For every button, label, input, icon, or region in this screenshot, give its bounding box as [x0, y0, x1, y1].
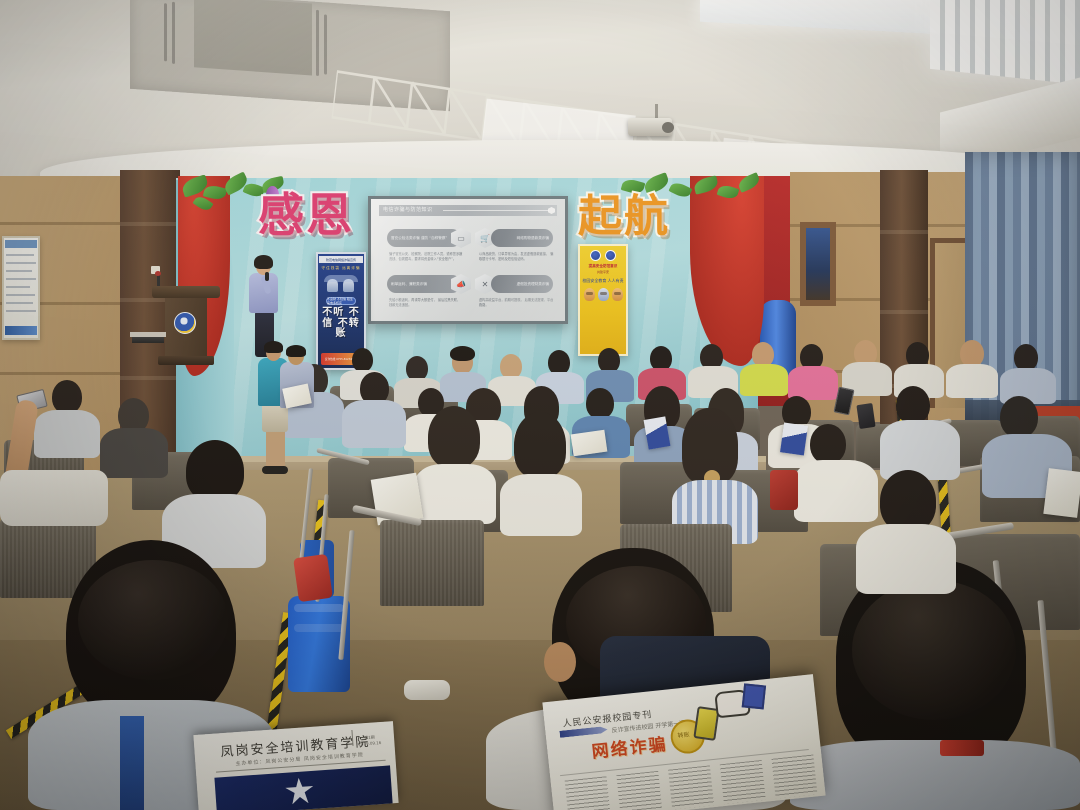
attendee-torso: [788, 366, 838, 400]
slide-card: 虚假投资理财类诈骗: [491, 275, 553, 293]
attendee-torso: [880, 420, 960, 480]
attendee-torso: [740, 364, 788, 396]
lanyard: [120, 716, 144, 810]
projection-screen: 电信诈骗与防范知识 冒充公检法类诈骗 谨防 “自称警察” ▭ 骗子冒充公安、检察…: [371, 199, 565, 321]
notice-board: [2, 236, 40, 340]
newspaper-handout-left[interactable]: 凤岗安全培训教育学院 第1期 2019.09.16 主办单位：凤岗公安分局 凤岗…: [193, 721, 398, 810]
slide-card: 网络购物退款类诈骗: [491, 229, 553, 247]
police-emblem: [174, 312, 196, 334]
attendee-torso: [342, 400, 406, 448]
helper-hair: [264, 341, 283, 353]
newspaper-column: [668, 765, 714, 809]
banner-figures: [584, 288, 623, 301]
attendee-head: [896, 386, 930, 424]
attendee-torso: [34, 410, 100, 458]
attendee-head: [810, 424, 846, 464]
pamphlet[interactable]: [780, 422, 808, 455]
attendee-head: [880, 470, 936, 532]
child-icon: [584, 288, 595, 301]
attendee-head: [1000, 396, 1038, 438]
attendee-head: [52, 380, 82, 414]
attendee-torso: [0, 470, 108, 526]
slide-card: 冒充公检法类诈骗 谨防 “自称警察”: [387, 229, 461, 247]
issue-date: 2019.09.16: [358, 740, 381, 747]
banner-subtitle: 共建平安: [597, 270, 609, 274]
red-lanyard: [940, 740, 984, 756]
slide-card-label: 冒充公检法类诈骗 谨防 “自称警察”: [391, 236, 447, 241]
attendee-torso: [946, 364, 998, 398]
smartphone[interactable]: [856, 403, 875, 429]
shoe: [404, 680, 450, 700]
newspaper-column: [772, 755, 818, 799]
projection-screen-frame: 电信诈骗与防范知识 冒充公检法类诈骗 谨防 “自称警察” ▭ 骗子冒充公安、检察…: [368, 196, 568, 324]
child-icon: [612, 288, 623, 301]
attendee-head: [586, 388, 614, 419]
microphone-head-icon: [155, 271, 161, 276]
attendee-hair: [514, 412, 566, 478]
banner-safety-yellow: 提高安全防范意识 共建平安 校园安全教育 人人有责: [578, 244, 628, 356]
attendee-head: [352, 348, 373, 372]
slide-title: 电信诈骗与防范知识: [383, 206, 433, 213]
auditorium-photo: 感恩 起航 电信诈骗与防范知识 冒充公检法类诈骗 谨防 “自称警察” ▭ 骗子冒…: [0, 0, 1080, 810]
attendee-torso: [856, 524, 956, 594]
banner-body: 校园安全教育 人人有责: [582, 278, 623, 284]
banner-title: 提高安全防范意识: [589, 264, 618, 269]
banner-pill-text: 不贪财 不轻信 陌生来电多核实: [326, 297, 356, 305]
attendee-head: [960, 340, 984, 367]
backdrop-word-right: 起航: [578, 196, 670, 238]
attendee-torso: [794, 460, 878, 522]
notice-header-band: [5, 240, 37, 248]
newspaper-issue-date: 第1期 2019.09.16: [358, 734, 382, 747]
attendee-hair: [428, 406, 480, 468]
helper-shoe: [262, 466, 288, 474]
hair-highlight: [852, 580, 1016, 720]
attendee-torso: [414, 464, 496, 524]
helper-legs: [266, 430, 285, 470]
handout[interactable]: [1043, 468, 1080, 518]
stool-highlight: [294, 604, 344, 612]
attendee-head: [1014, 344, 1038, 371]
notice-footer-band: [5, 326, 37, 335]
framed-picture-right: [800, 222, 836, 306]
attendee-head: [186, 440, 244, 502]
slide-card: 刷单返利、兼职类诈骗: [387, 275, 461, 293]
side-table-top: [130, 332, 166, 337]
slide-card-label: 虚假投资理财类诈骗: [517, 282, 549, 287]
speaker-hair: [254, 255, 273, 269]
ear: [544, 642, 576, 682]
attendee-torso-foreground: [790, 740, 1080, 810]
seat-mesh: [380, 520, 484, 606]
police-badge-icon: [605, 250, 616, 261]
banner-badges: [590, 250, 616, 261]
sleeve-cuff-icon: [742, 683, 766, 709]
newspaper-headline: 网络诈骗: [590, 730, 668, 763]
side-table: [132, 336, 164, 343]
podium-base: [158, 356, 214, 365]
slide-card-body: 骗子冒充公安、检察院、法院工作人员，谎称您涉嫌 洗钱、包裹藏毒，要求将资金转入“…: [389, 252, 463, 262]
police-icon: [598, 288, 609, 301]
slide-card-body: 虚构高收益平台，前期可提现， 后期无法提现、平台跑路。: [479, 298, 555, 308]
banner-org-strip: 防范电信网络诈骗宣传: [319, 256, 363, 263]
backdrop-word-left: 感恩: [258, 194, 354, 238]
police-badge-icon: [590, 250, 601, 261]
slide-card-label: 刷单返利、兼职类诈骗: [391, 282, 427, 287]
banner-illustration: [324, 273, 358, 295]
podium-top: [152, 286, 220, 298]
banner-org-text: 防范电信网络诈骗宣传: [326, 258, 356, 262]
red-bag: [770, 470, 798, 510]
slide-card-body: 以商品缺货、订单异常为由，发送虚假退款链接， 骗取银行卡号、密码及短信验证码。: [479, 252, 555, 262]
slide-card-label: 网络购物退款类诈骗: [517, 236, 549, 241]
helper-hair: [286, 345, 306, 357]
projector-lens-icon: [662, 122, 674, 133]
attendee-hair: [450, 346, 475, 361]
newspaper-column: [720, 760, 766, 804]
banner-slogan: 不听 不信 不转账: [318, 308, 364, 340]
attendee-torso: [500, 474, 582, 536]
slide-card-body: 先给小额返利，再诱导大额垫付， 最后拉黑失联，钱款无法追回。: [389, 298, 463, 308]
banner-subtitle: 守住钱袋 远离诈骗: [322, 266, 361, 271]
handheld-microphone: [265, 272, 269, 281]
issue-number: 第1期: [364, 734, 375, 740]
hair-highlight: [78, 560, 228, 680]
slide-title-rule: [443, 210, 549, 211]
stool-highlight: [294, 624, 344, 632]
newspaper-column: [565, 776, 611, 810]
handout[interactable]: [571, 430, 608, 457]
red-bag: [293, 554, 333, 602]
newspaper-column: [616, 771, 662, 810]
attendee-torso: [100, 428, 168, 478]
coin-label: 转账: [677, 729, 690, 739]
